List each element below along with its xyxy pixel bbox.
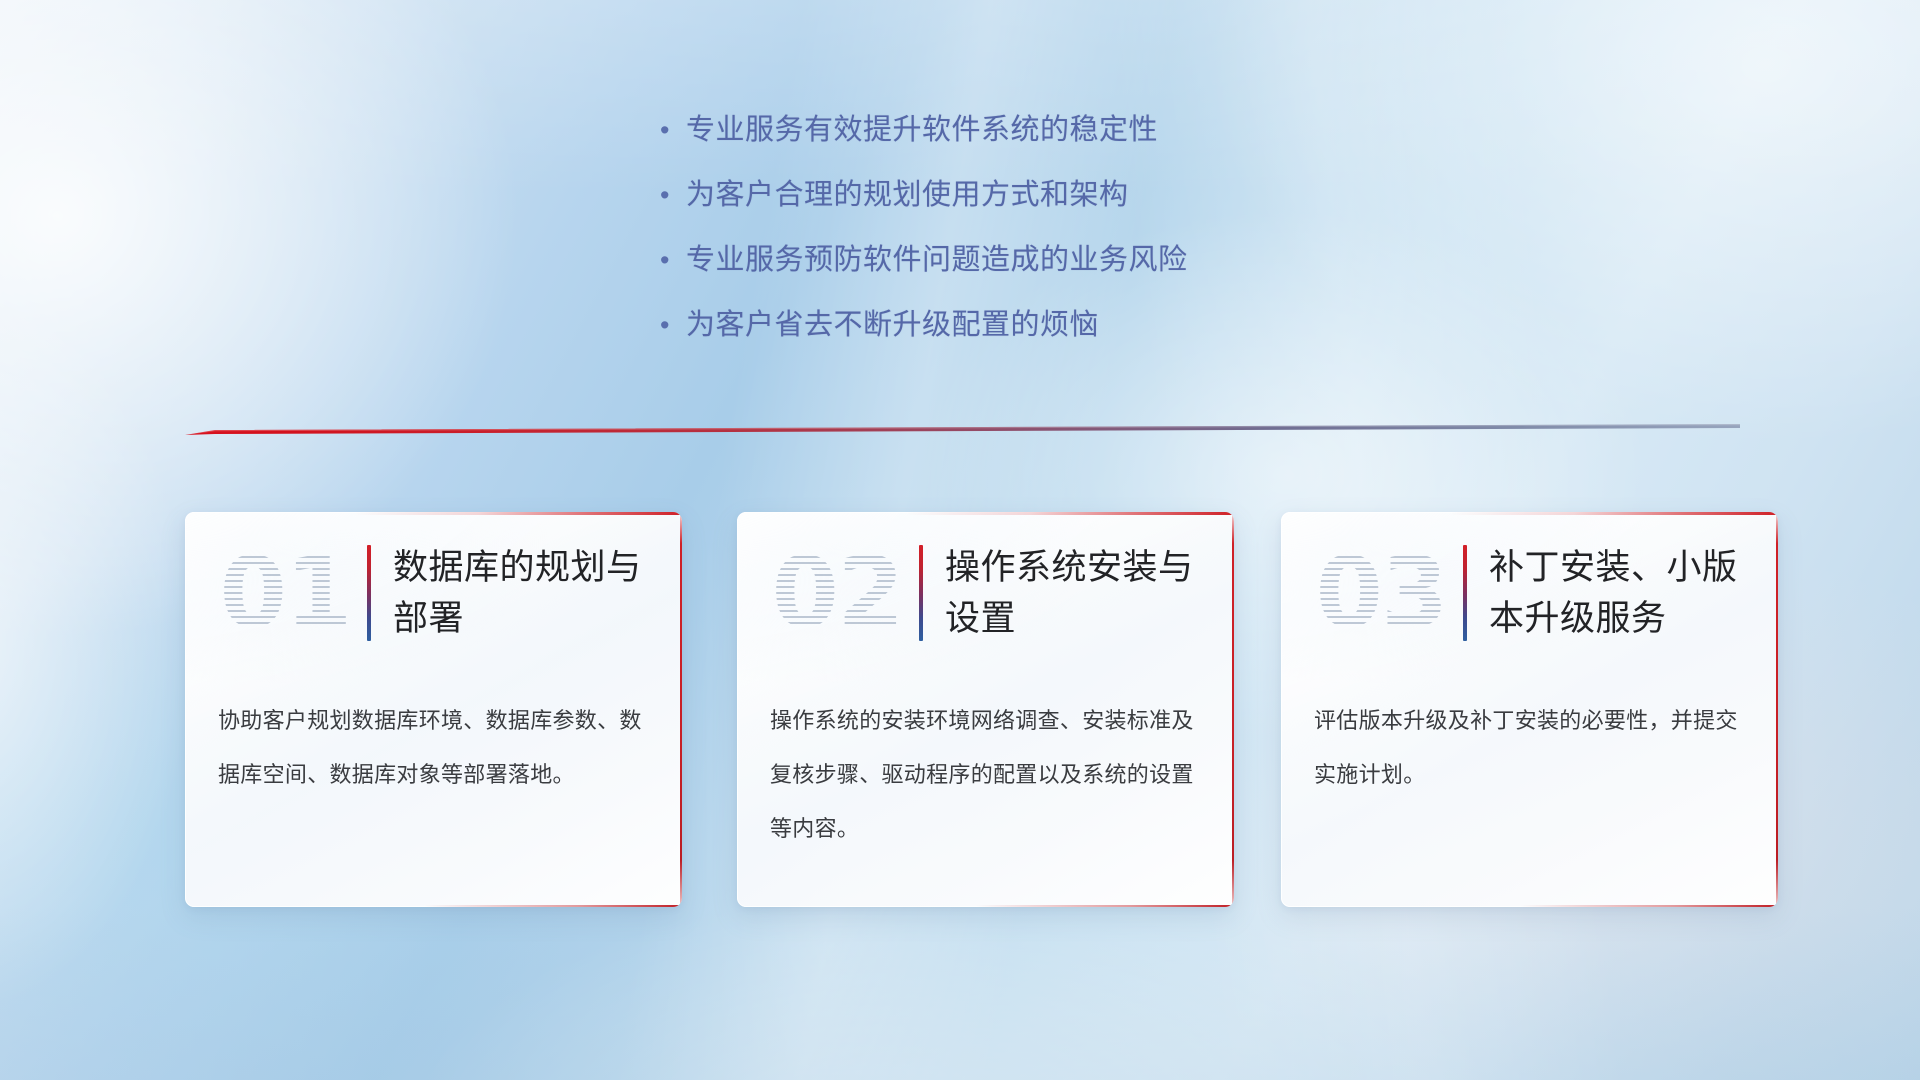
service-card-02[interactable]: 02 操作系统安装与设置 操作系统的安装环境网络调查、安装标准及复核步骤、驱动程… (737, 512, 1234, 907)
card-header: 03 补丁安装、小版本升级服务 (1281, 530, 1778, 656)
bullet-dot-icon: • (660, 175, 686, 215)
card-number: 03 (1301, 538, 1461, 648)
card-accent-bar (1463, 545, 1467, 641)
card-title: 补丁安装、小版本升级服务 (1489, 542, 1778, 644)
bullet-dot-icon: • (660, 110, 686, 150)
card-number: 02 (757, 538, 917, 648)
card-title: 操作系统安装与设置 (945, 542, 1234, 644)
card-accent-bar (367, 545, 371, 641)
card-header: 01 数据库的规划与部署 (185, 530, 682, 656)
card-edge-bottom-line (1520, 905, 1778, 908)
bullet-item: • 专业服务预防软件问题造成的业务风险 (660, 240, 1420, 305)
card-edge-top-line (1450, 512, 1778, 515)
bullet-text: 为客户合理的规划使用方式和架构 (686, 175, 1129, 215)
section-divider (185, 424, 1740, 442)
card-title: 数据库的规划与部署 (393, 542, 682, 644)
bullet-item: • 为客户合理的规划使用方式和架构 (660, 175, 1420, 240)
card-edge-top-line (906, 512, 1234, 515)
bullet-text: 专业服务预防软件问题造成的业务风险 (686, 240, 1188, 280)
benefits-bullet-list: • 专业服务有效提升软件系统的稳定性 • 为客户合理的规划使用方式和架构 • 专… (660, 110, 1420, 370)
bullet-item: • 为客户省去不断升级配置的烦恼 (660, 305, 1420, 370)
bullet-text: 为客户省去不断升级配置的烦恼 (686, 305, 1099, 345)
card-body-text: 评估版本升级及补丁安装的必要性，并提交实施计划。 (1314, 694, 1748, 802)
service-card-01[interactable]: 01 数据库的规划与部署 协助客户规划数据库环境、数据库参数、数据库空间、数据库… (185, 512, 682, 907)
card-header: 02 操作系统安装与设置 (737, 530, 1234, 656)
service-cards: 01 数据库的规划与部署 协助客户规划数据库环境、数据库参数、数据库空间、数据库… (0, 512, 1920, 922)
bullet-dot-icon: • (660, 240, 686, 280)
card-body-text: 协助客户规划数据库环境、数据库参数、数据库空间、数据库对象等部署落地。 (218, 694, 652, 802)
card-edge-bottom-line (976, 905, 1234, 908)
card-number: 01 (205, 538, 365, 648)
service-card-03[interactable]: 03 补丁安装、小版本升级服务 评估版本升级及补丁安装的必要性，并提交实施计划。 (1281, 512, 1778, 907)
card-edge-bottom-line (424, 905, 682, 908)
card-body-text: 操作系统的安装环境网络调查、安装标准及复核步骤、驱动程序的配置以及系统的设置等内… (770, 694, 1204, 856)
card-edge-top-line (354, 512, 682, 515)
bullet-text: 专业服务有效提升软件系统的稳定性 (686, 110, 1158, 150)
bullet-item: • 专业服务有效提升软件系统的稳定性 (660, 110, 1420, 175)
bullet-dot-icon: • (660, 305, 686, 345)
slide-canvas: • 专业服务有效提升软件系统的稳定性 • 为客户合理的规划使用方式和架构 • 专… (0, 0, 1920, 1080)
card-accent-bar (919, 545, 923, 641)
